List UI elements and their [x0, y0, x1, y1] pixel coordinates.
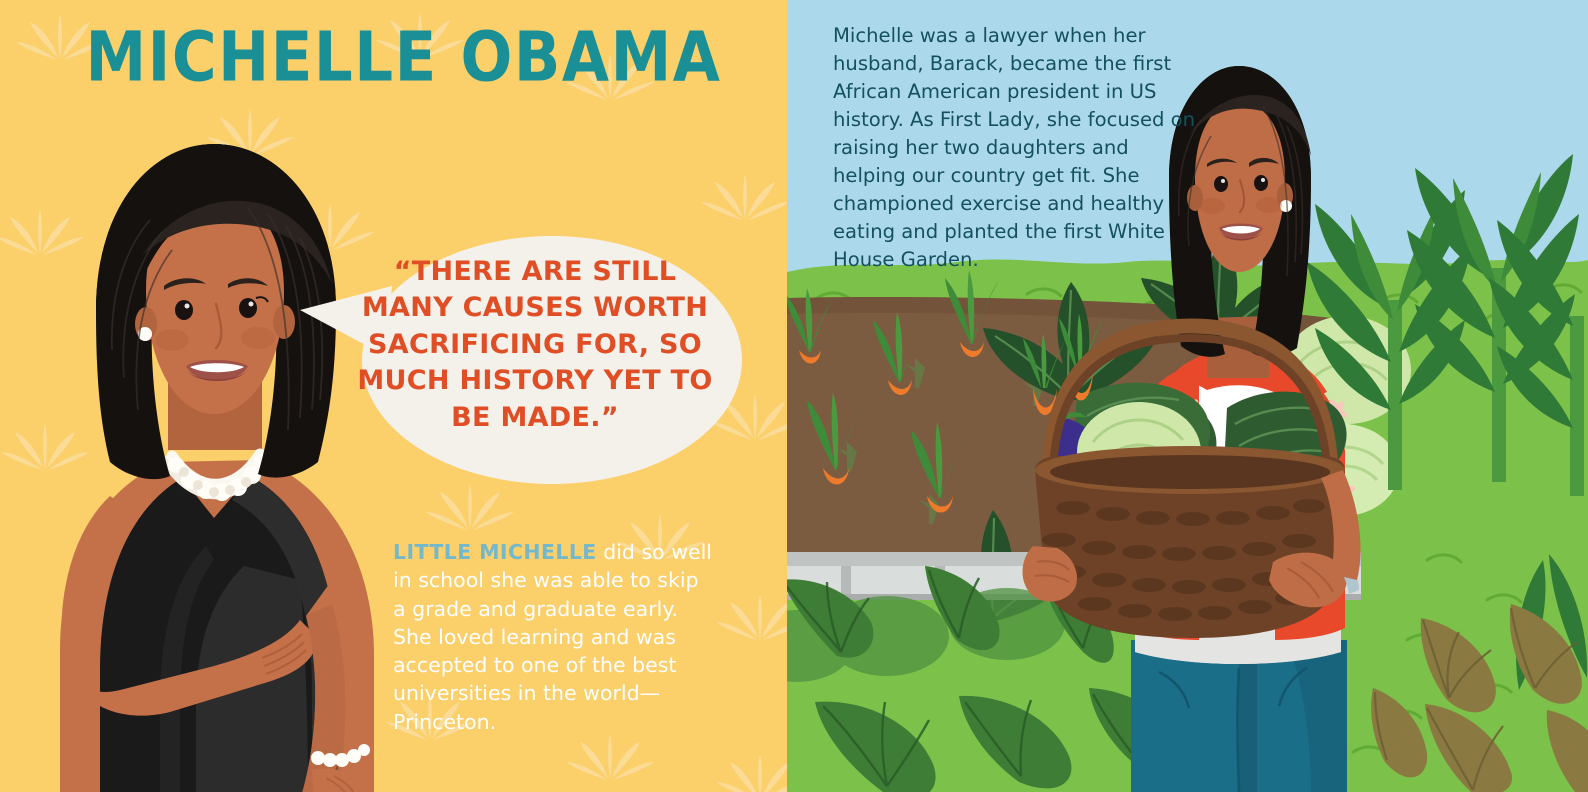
quote-text: “THERE ARE STILL MANY CAUSES WORTH SACRI…: [355, 254, 715, 436]
speech-bubble: “THERE ARE STILL MANY CAUSES WORTH SACRI…: [300, 232, 760, 492]
page-title: MICHELLE OBAMA: [0, 18, 787, 98]
left-page: MICHELLE OBAMA: [0, 0, 787, 792]
right-page: Michelle was a lawyer when her husband, …: [787, 0, 1588, 792]
body-lead-in: LITTLE MICHELLE: [393, 540, 597, 564]
body-rest: did so well in school she was able to sk…: [393, 540, 712, 734]
body-paragraph: LITTLE MICHELLE did so well in school sh…: [393, 538, 713, 736]
right-page-paragraph: Michelle was a lawyer when her husband, …: [833, 22, 1201, 274]
book-spread: MICHELLE OBAMA: [0, 0, 1588, 792]
